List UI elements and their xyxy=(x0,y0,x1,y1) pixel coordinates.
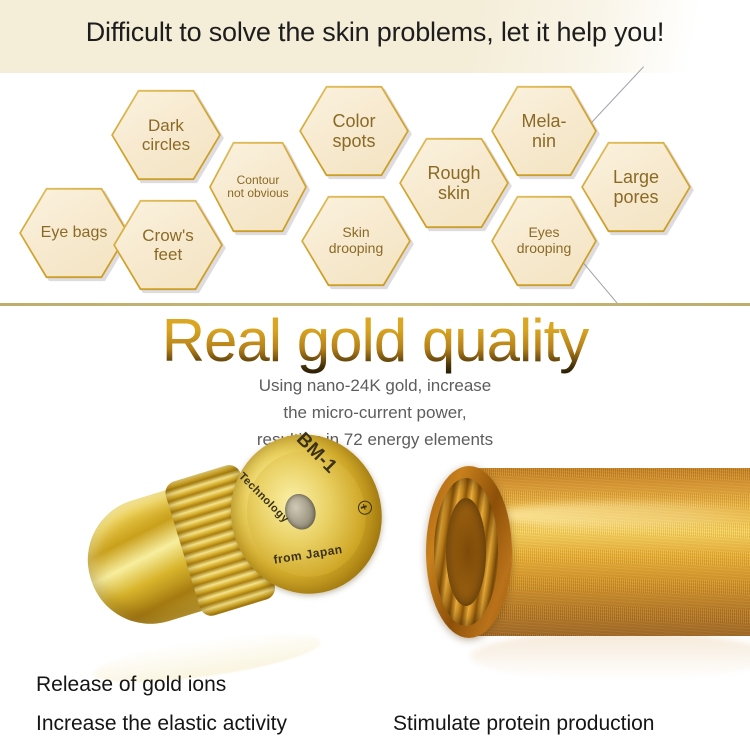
hexagon-label: Eyes drooping xyxy=(513,225,576,256)
product-marketing-page: Difficult to solve the skin problems, le… xyxy=(0,0,750,750)
hexagon-label: Mela- nin xyxy=(517,111,570,151)
hexagon-label: Large pores xyxy=(609,167,663,207)
section-headline: Real gold quality xyxy=(0,306,750,375)
section-subcopy: Using nano-24K gold, increase the micro-… xyxy=(0,372,750,453)
subcopy-line-2: the micro-current power, xyxy=(0,399,750,426)
hexagon-dark-circles[interactable]: Dark circles xyxy=(110,87,222,183)
caption-stimulate-protein-production: Stimulate protein production xyxy=(393,712,655,736)
hexagon-skin-drooping[interactable]: Skin drooping xyxy=(300,193,412,289)
hexagon-large-pores[interactable]: Large pores xyxy=(580,139,692,235)
hexagon-label: Contour not obvious xyxy=(223,174,292,201)
hexagon-color-spots[interactable]: Color spots xyxy=(298,83,410,179)
caption-increase-elastic-activity: Increase the elastic activity xyxy=(36,712,287,736)
caption-release-gold-ions: Release of gold ions xyxy=(36,673,226,697)
subcopy-line-3: resulting in 72 energy elements xyxy=(0,426,750,453)
tube-highlight xyxy=(490,502,750,528)
banner-title: Difficult to solve the skin problems, le… xyxy=(0,17,750,48)
hexagon-label: Crow's feet xyxy=(138,226,197,264)
gold-tube-photo xyxy=(420,464,750,642)
subcopy-line-1: Using nano-24K gold, increase xyxy=(0,372,750,399)
hexagon-contour-not-obvious[interactable]: Contour not obvious xyxy=(208,139,308,235)
product-photo-row: BM-1 Technology from Japan xyxy=(0,452,750,697)
hexagon-label: Rough skin xyxy=(423,163,484,203)
hexagon-label: Dark circles xyxy=(138,116,194,154)
hexagon-label: Eye bags xyxy=(37,224,112,242)
hexagon-label: Skin drooping xyxy=(325,225,388,256)
header-banner: Difficult to solve the skin problems, le… xyxy=(0,0,750,73)
tube-bore-opening xyxy=(446,498,486,606)
hexagon-label: Color spots xyxy=(328,111,379,151)
skin-problem-hexagon-field: Eye bags Dark circles Crow's feet Contou… xyxy=(0,73,750,303)
